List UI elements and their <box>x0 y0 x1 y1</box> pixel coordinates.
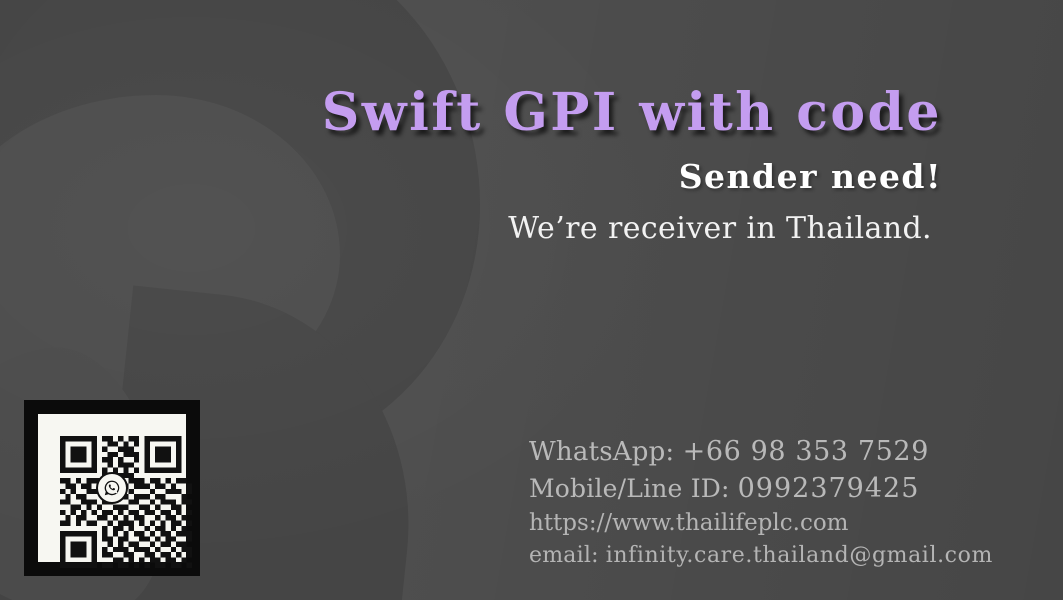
website-url[interactable]: https://www.thailifeplc.com <box>529 510 848 536</box>
mobile-number: 0992379425 <box>738 473 920 504</box>
page-title: Swift GPI with code <box>322 82 942 143</box>
mobile-label: Mobile/Line ID: <box>529 474 730 503</box>
subtitle: Sender need! <box>679 157 942 196</box>
tagline: We’re receiver in Thailand. <box>508 211 932 246</box>
contact-line-mobile: Mobile/Line ID: 0992379425 <box>529 475 993 502</box>
contact-line-website[interactable]: https://www.thailifeplc.com <box>529 512 993 535</box>
contact-block: WhatsApp: +66 98 353 7529 Mobile/Line ID… <box>529 438 993 567</box>
contact-line-whatsapp: WhatsApp: +66 98 353 7529 <box>529 438 993 465</box>
whatsapp-icon <box>96 472 128 504</box>
whatsapp-number: +66 98 353 7529 <box>683 436 929 467</box>
whatsapp-qr-code[interactable] <box>24 400 200 576</box>
email-address[interactable]: infinity.care.thailand@gmail.com <box>606 543 993 568</box>
qr-modules <box>60 436 192 568</box>
watermark-bowl <box>0 0 480 460</box>
watermark-counter <box>0 95 340 415</box>
qr-quiet-zone <box>38 414 186 562</box>
contact-line-email[interactable]: email: infinity.care.thailand@gmail.com <box>529 545 993 567</box>
business-card: Swift GPI with code Sender need! We’re r… <box>0 0 1063 600</box>
email-label: email: <box>529 543 599 568</box>
whatsapp-label: WhatsApp: <box>529 437 674 467</box>
